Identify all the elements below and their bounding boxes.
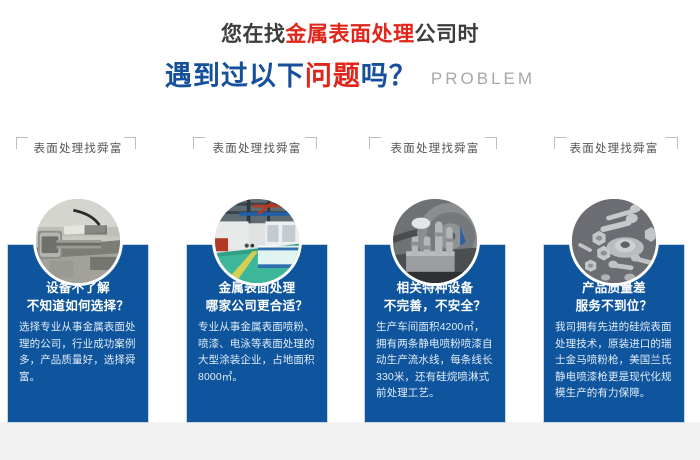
heading-line1-post: 公司时: [415, 23, 480, 46]
page-heading: 您在找金属表面处理公司时 遇到过以下问题吗？ PROBLEM: [0, 20, 700, 98]
bracket-top-right-icon: [305, 137, 317, 149]
bracket-top-right-icon: [485, 137, 497, 149]
bracket-top-left-icon: [16, 137, 28, 149]
card-body-text: 我司拥有先进的硅烷表面处理技术，原装进口的瑞士金马喷粉枪，美国兰氏静电喷漆枪更是…: [555, 319, 673, 402]
card-question-line-2: 不知道如何选择？: [14, 297, 142, 315]
card-body-text: 专业从事金属表面喷粉、喷漆、电泳等表面处理的大型涂装企业，占地面积8000㎡。: [198, 319, 316, 385]
bracket-top-left-icon: [554, 137, 566, 149]
card-tag-header: 表面处理找舜富: [8, 133, 148, 163]
card-question-line-2: 不完善，不安全？: [371, 297, 499, 315]
card-tag-label: 表面处理找舜富: [213, 140, 302, 156]
problem-card[interactable]: 表面处理找舜富 金属表面处理 哪家公司更合适？ 专业从事金属表面喷粉、喷漆、电泳…: [187, 133, 327, 428]
heading-line2-pre: 遇到过以下: [165, 61, 305, 91]
heading-line2-highlight: 问题: [305, 61, 361, 91]
heading-english-label: PROBLEM: [431, 61, 535, 97]
problem-card[interactable]: 表面处理找舜富 产品质量差 服务不到位？ 我司拥有先进的硅烷表面处理技术，原装进…: [544, 133, 684, 428]
bracket-top-right-icon: [666, 137, 678, 149]
problem-card[interactable]: 表面处理找舜富 相关特种设备 不完善，不安全？ 生产车间面积4200㎡，拥有两条…: [365, 133, 505, 428]
card-tag-header: 表面处理找舜富: [187, 133, 327, 163]
card-body-text: 生产车间面积4200㎡，拥有两条静电喷粉喷漆自动生产流水线，每条线长330米，还…: [376, 319, 494, 402]
bracket-top-right-icon: [124, 137, 136, 149]
card-tag-label: 表面处理找舜富: [391, 140, 480, 156]
card-tag-label: 表面处理找舜富: [570, 140, 659, 156]
card-photo-factory-coating-workshop: [212, 196, 302, 286]
card-tag-header: 表面处理找舜富: [365, 133, 505, 163]
heading-line-2: 遇到过以下问题吗？ PROBLEM: [0, 58, 700, 98]
bracket-top-left-icon: [193, 137, 205, 149]
card-body-text: 选择专业从事金属表面处理的公司，行业成功案例多，产品质量好，选择舜富。: [19, 319, 137, 385]
card-photo-bolts-nuts-fasteners: [569, 196, 659, 286]
heading-line1-pre: 您在找: [221, 23, 286, 46]
problem-card-list: 表面处理找舜富 设备不了解 不知道如何选择？ 选择专业从事金属表面处理的公司，行…: [0, 133, 700, 433]
heading-line-1: 您在找金属表面处理公司时: [0, 20, 700, 50]
card-photo-metal-parts-fixture: [390, 196, 480, 286]
promo-banner: 您在找金属表面处理公司时 遇到过以下问题吗？ PROBLEM 表面处理找舜富 设…: [0, 0, 700, 460]
heading-line1-highlight: 金属表面处理: [286, 23, 415, 46]
heading-line2-text: 遇到过以下问题吗？: [165, 58, 417, 94]
problem-card[interactable]: 表面处理找舜富 设备不了解 不知道如何选择？ 选择专业从事金属表面处理的公司，行…: [8, 133, 148, 428]
bracket-top-left-icon: [369, 137, 381, 149]
heading-line2-post: 吗？: [361, 61, 417, 91]
card-question-line-2: 哪家公司更合适？: [193, 297, 321, 315]
card-tag-label: 表面处理找舜富: [34, 140, 123, 156]
card-question-line-2: 服务不到位？: [550, 297, 678, 315]
card-tag-header: 表面处理找舜富: [544, 133, 684, 163]
card-photo-cnc-lathe-machining: [33, 196, 123, 286]
